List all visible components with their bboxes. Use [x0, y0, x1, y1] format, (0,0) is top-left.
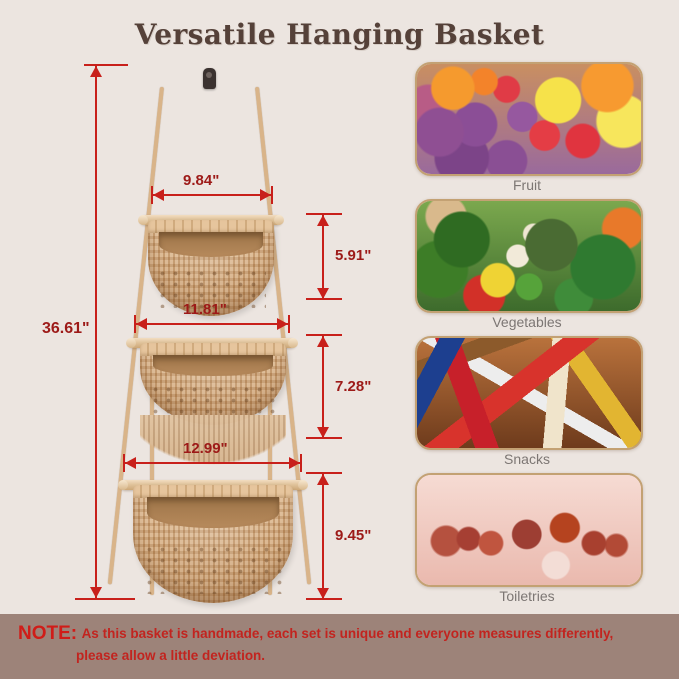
wall-hook-icon: [203, 68, 216, 89]
toiletries-photo: [417, 475, 641, 585]
dim-line-mid-height: [322, 336, 324, 438]
dim-label-top-height: 5.91": [335, 247, 371, 264]
arrow-bot-width-left: [125, 457, 136, 469]
snacks-photo: [417, 338, 641, 448]
arrow-top-height-lower: [317, 288, 329, 299]
arrow-bot-height-lower: [317, 588, 329, 599]
dim-label-mid-height: 7.28": [335, 378, 371, 395]
ext-line-overall-bottom: [75, 598, 135, 600]
dim-label-bot-width: 12.99": [183, 440, 228, 457]
ext-line-top-width-right: [271, 186, 273, 204]
dim-line-bot-width: [125, 462, 300, 464]
arrow-bot-width-right: [289, 457, 300, 469]
vegetables-photo: [417, 201, 641, 311]
use-case-label-vegetables: Vegetables: [415, 314, 639, 330]
use-case-card-fruit[interactable]: [415, 62, 643, 176]
dim-label-bot-height: 9.45": [335, 527, 371, 544]
use-case-card-vegetables[interactable]: [415, 199, 643, 313]
arrow-mid-height-lower: [317, 427, 329, 438]
dim-line-mid-width: [136, 323, 288, 325]
arrow-mid-width-right: [277, 318, 288, 330]
arrow-bot-height-upper: [317, 474, 329, 485]
arrow-mid-width-left: [136, 318, 147, 330]
use-case-card-snacks[interactable]: [415, 336, 643, 450]
dim-line-bot-height: [322, 474, 324, 598]
arrow-overall-top: [90, 66, 102, 77]
dim-label-top-width: 9.84": [183, 172, 219, 189]
dim-line-top-height: [322, 215, 324, 299]
fruit-photo: [417, 64, 641, 174]
dim-line-overall-height: [95, 66, 97, 598]
note-line-1: As this basket is handmade, each set is …: [82, 626, 614, 641]
arrow-overall-bottom: [90, 587, 102, 598]
note-line-2: please allow a little deviation.: [76, 645, 665, 667]
ext-line-bot-width-right: [300, 454, 302, 472]
dim-line-top-width: [153, 194, 271, 196]
ext-line-mid-width-right: [288, 315, 290, 333]
basket-middle: [140, 343, 286, 425]
dim-label-mid-width: 11.81": [183, 301, 227, 318]
infographic-root: Versatile Hanging Basket: [0, 0, 679, 679]
use-case-label-fruit: Fruit: [415, 177, 639, 193]
note-banner: NOTE: As this basket is handmade, each s…: [0, 614, 679, 679]
use-case-label-toiletries: Toiletries: [415, 588, 639, 604]
arrow-top-width-left: [153, 189, 164, 201]
note-keyword: NOTE:: [18, 623, 77, 645]
page-title: Versatile Hanging Basket: [0, 18, 679, 51]
arrow-top-height-upper: [317, 215, 329, 226]
arrow-mid-height-upper: [317, 336, 329, 347]
use-case-label-snacks: Snacks: [415, 451, 639, 467]
dim-label-overall-height: 36.61": [42, 320, 90, 338]
arrow-top-width-right: [260, 189, 271, 201]
use-case-card-toiletries[interactable]: [415, 473, 643, 587]
basket-bottom: [133, 485, 293, 603]
